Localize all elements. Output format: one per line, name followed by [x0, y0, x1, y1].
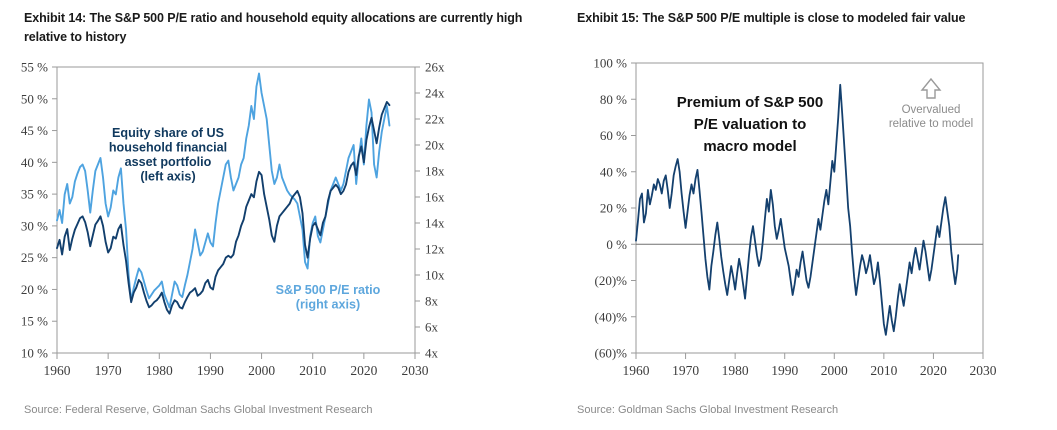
annotation-line: asset portfolio: [125, 155, 212, 169]
y-axis-right-label: 20x: [425, 138, 445, 153]
annotation-line: Overvalued: [902, 104, 961, 116]
y-axis-right-label: 24x: [425, 86, 445, 101]
annotation-premium-label: Premium of S&P 500P/E valuation tomacro …: [677, 94, 823, 155]
x-axis-label: 1970: [672, 363, 699, 378]
exhibit-15-panel: Exhibit 15: The S&P 500 P/E multiple is …: [558, 0, 1057, 430]
annotation-line: Premium of S&P 500: [677, 94, 823, 111]
x-axis-label: 2020: [350, 363, 377, 378]
annotation-line: household financial: [109, 141, 227, 155]
y-axis-left-label: 55 %: [21, 60, 48, 75]
x-axis-label: 2010: [299, 363, 326, 378]
y-axis-label: 40 %: [600, 164, 627, 179]
x-axis-label: 2030: [970, 363, 997, 378]
exhibit-14-title: Exhibit 14: The S&P 500 P/E ratio and ho…: [24, 9, 544, 47]
annotation-line: relative to model: [889, 118, 973, 130]
x-axis-label: 2000: [248, 363, 275, 378]
y-axis-right-label: 8x: [425, 294, 439, 309]
y-axis-right-label: 14x: [425, 216, 445, 231]
y-axis-label: 20 %: [600, 201, 627, 216]
x-axis-label: 1960: [44, 363, 71, 378]
exhibits-page: Exhibit 14: The S&P 500 P/E ratio and ho…: [0, 0, 1057, 430]
exhibit-14-source: Source: Federal Reserve, Goldman Sachs G…: [24, 404, 373, 416]
y-axis-left-label: 25 %: [21, 250, 48, 265]
annotation-line: Equity share of US: [112, 126, 224, 140]
y-axis-left-label: 30 %: [21, 218, 48, 233]
exhibit-14-svg: 10 %15 %20 %25 %30 %35 %40 %45 %50 %55 %…: [0, 55, 545, 385]
annotation-line: macro model: [703, 138, 796, 155]
exhibit-15-svg: (60)%(40)%(20)%0 %20 %40 %60 %80 %100 %1…: [558, 45, 1057, 385]
y-axis-left-label: 35 %: [21, 187, 48, 202]
exhibit-15-chart: (60)%(40)%(20)%0 %20 %40 %60 %80 %100 %1…: [558, 45, 1057, 385]
y-axis-right-label: 12x: [425, 242, 445, 257]
x-axis-label: 1980: [722, 363, 749, 378]
exhibit-15-title: Exhibit 15: The S&P 500 P/E multiple is …: [577, 9, 1047, 28]
y-axis-right-label: 6x: [425, 320, 439, 335]
annotation-overvalued: Overvaluedrelative to model: [889, 79, 973, 130]
annotation-line: (right axis): [296, 298, 360, 312]
x-axis-label: 2010: [870, 363, 897, 378]
x-axis-label: 2020: [920, 363, 947, 378]
annotation-pe-ratio: S&P 500 P/E ratio(right axis): [276, 283, 381, 312]
y-axis-right-label: 10x: [425, 268, 445, 283]
exhibit-14-panel: Exhibit 14: The S&P 500 P/E ratio and ho…: [0, 0, 545, 430]
annotation-equity-share: Equity share of UShousehold financialass…: [109, 126, 227, 184]
y-axis-right-label: 18x: [425, 164, 445, 179]
x-axis-label: 2000: [821, 363, 848, 378]
annotation-line: P/E valuation to: [694, 116, 807, 133]
y-axis-left-label: 20 %: [21, 282, 48, 297]
y-axis-right-label: 16x: [425, 190, 445, 205]
y-axis-label: (60)%: [595, 346, 628, 361]
y-axis-left-label: 15 %: [21, 314, 48, 329]
x-axis-label: 1990: [771, 363, 798, 378]
x-axis-label: 2030: [402, 363, 429, 378]
y-axis-label: (40)%: [595, 309, 628, 324]
exhibit-14-chart: 10 %15 %20 %25 %30 %35 %40 %45 %50 %55 %…: [0, 55, 545, 385]
y-axis-label: 100 %: [593, 56, 627, 71]
y-axis-label: (20)%: [595, 273, 628, 288]
annotation-line: S&P 500 P/E ratio: [276, 283, 381, 297]
y-axis-left-label: 50 %: [21, 91, 48, 106]
y-axis-left-label: 45 %: [21, 123, 48, 138]
x-axis-label: 1990: [197, 363, 224, 378]
y-axis-label: 60 %: [600, 128, 627, 143]
up-arrow-icon: [922, 79, 940, 98]
annotation-line: (left axis): [140, 170, 195, 184]
y-axis-right-label: 22x: [425, 112, 445, 127]
y-axis-left-label: 10 %: [21, 346, 48, 361]
exhibit-15-source: Source: Goldman Sachs Global Investment …: [577, 404, 838, 416]
x-axis-label: 1980: [146, 363, 173, 378]
y-axis-label: 0 %: [606, 237, 627, 252]
y-axis-right-label: 4x: [425, 346, 439, 361]
x-axis-label: 1960: [623, 363, 650, 378]
x-axis-label: 1970: [95, 363, 122, 378]
y-axis-right-label: 26x: [425, 60, 445, 75]
y-axis-label: 80 %: [600, 92, 627, 107]
y-axis-left-label: 40 %: [21, 155, 48, 170]
